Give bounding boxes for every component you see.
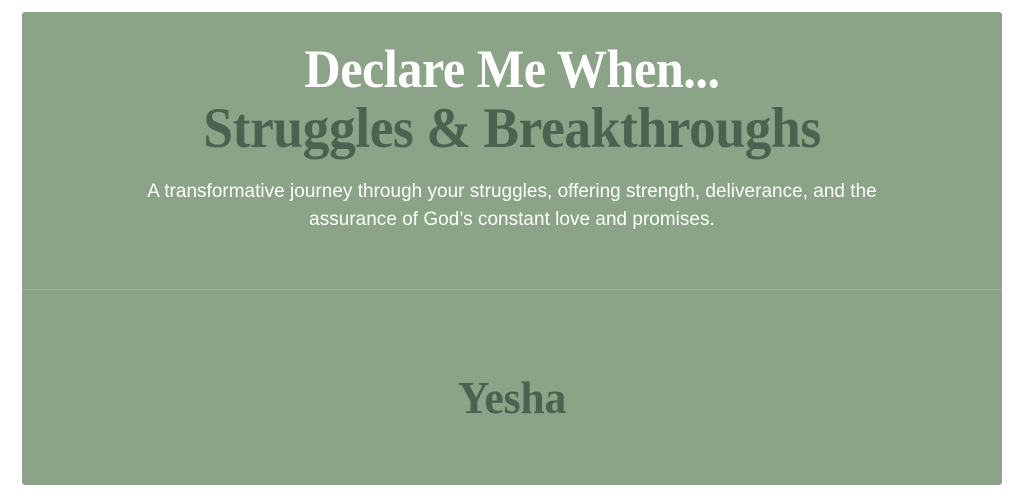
page-root: Declare Me When... Struggles & Breakthro… — [0, 0, 1024, 504]
author-block: Yesha — [22, 290, 1002, 485]
subtitle-description: A transformative journey through your st… — [124, 177, 900, 234]
title-line-secondary: Struggles & Breakthroughs — [51, 100, 972, 157]
header-block: Declare Me When... Struggles & Breakthro… — [22, 12, 1002, 289]
hero-card: Declare Me When... Struggles & Breakthro… — [22, 12, 1002, 485]
title-line-primary: Declare Me When... — [56, 42, 967, 96]
author-name: Yesha — [47, 375, 978, 421]
title-group: Declare Me When... Struggles & Breakthro… — [22, 42, 1002, 157]
